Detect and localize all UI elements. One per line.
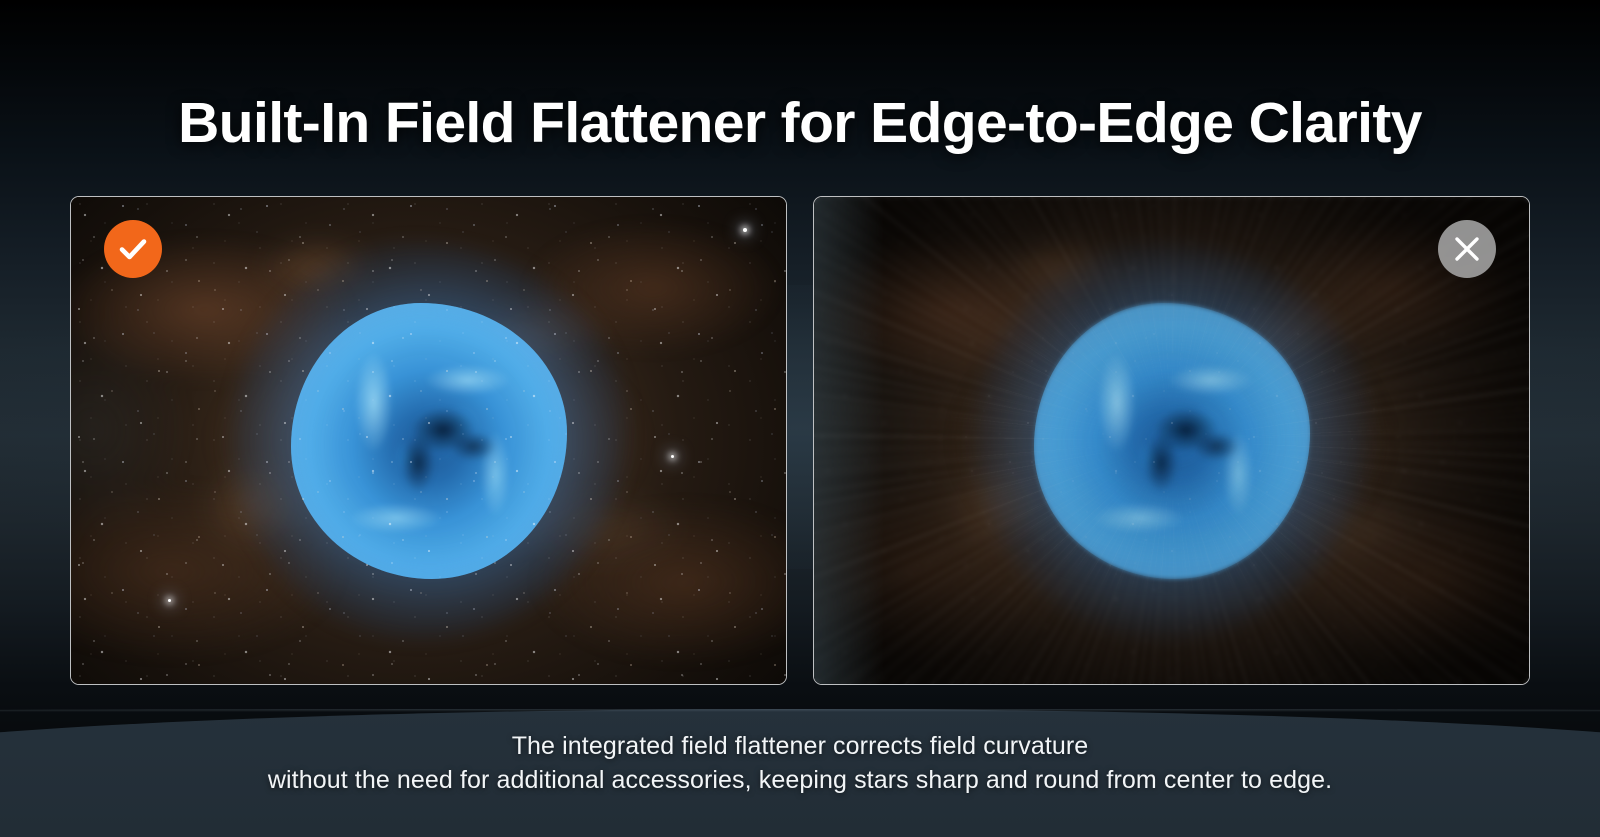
bright-star [168,599,171,602]
check-icon [116,232,150,266]
page-title: Built-In Field Flattener for Edge-to-Edg… [0,95,1600,152]
comparison-panels [70,196,1530,685]
panel-with-flattener[interactable] [70,196,787,685]
status-badge-bad [1438,220,1496,278]
caption-line-2: without the need for additional accessor… [0,763,1600,797]
starfield-faint [71,197,786,684]
caption-line-1: The integrated field flattener corrects … [512,732,1089,760]
status-badge-good [104,220,162,278]
panel-without-flattener[interactable] [813,196,1530,685]
caption: The integrated field flattener corrects … [0,729,1600,797]
edge-color-fringe [814,197,884,684]
bright-star [671,455,674,458]
bright-star [743,228,747,232]
promo-slide: Built-In Field Flattener for Edge-to-Edg… [0,0,1600,837]
close-icon [1450,232,1484,266]
edge-vignette [814,197,1529,684]
